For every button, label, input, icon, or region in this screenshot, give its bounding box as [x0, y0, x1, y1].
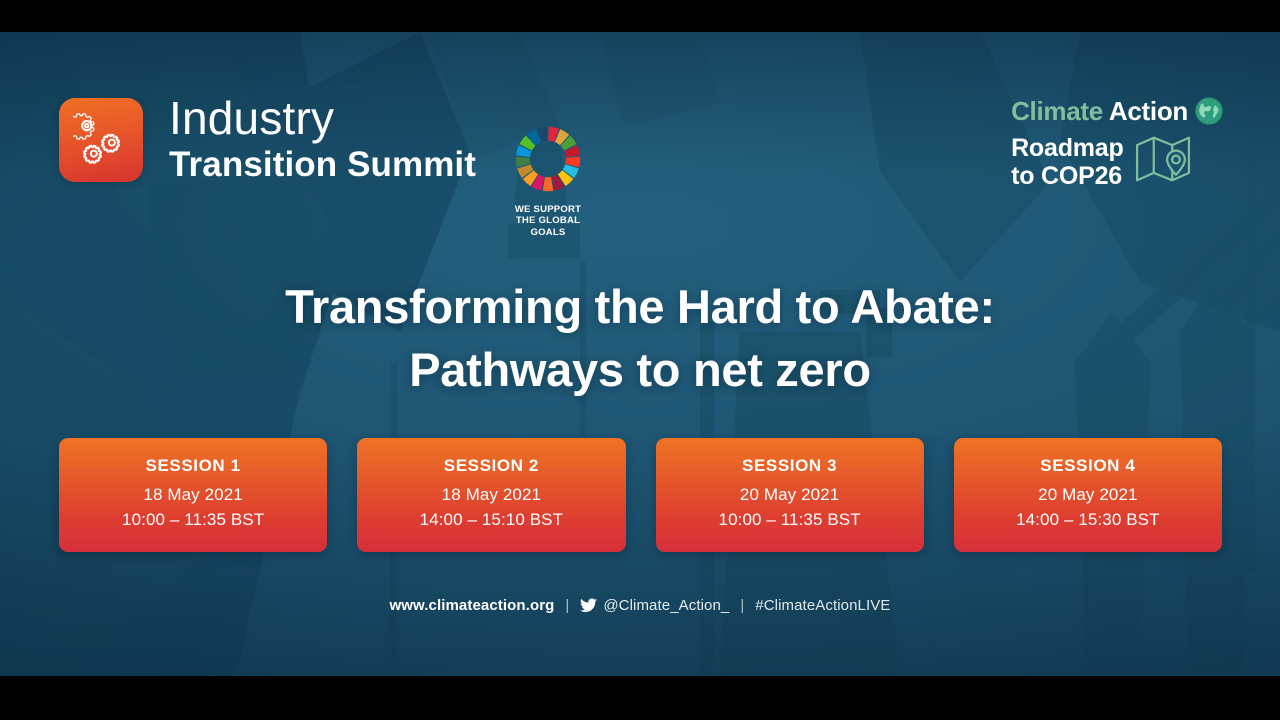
- roadmap-line2: to COP26: [1011, 162, 1122, 190]
- footer-separator: |: [565, 597, 569, 614]
- action-word: Action: [1109, 98, 1188, 124]
- session-name: SESSION 1: [146, 456, 241, 476]
- session-time: 14:00 – 15:30 BST: [1016, 507, 1159, 533]
- session-date: 20 May 2021: [1038, 482, 1137, 508]
- climate-action-roadmap-logo: Climate Action Roadmap to COP26: [1011, 96, 1224, 190]
- sdg-color-wheel-icon: [513, 124, 583, 194]
- footer-separator: |: [740, 597, 744, 614]
- title-line-1: Transforming the Hard to Abate:: [0, 276, 1280, 339]
- roadmap-to-cop26-text: Roadmap to COP26: [1011, 134, 1124, 190]
- sdg-caption-line2: THE GLOBAL GOALS: [516, 215, 580, 237]
- session-card[interactable]: SESSION 4 20 May 2021 14:00 – 15:30 BST: [954, 438, 1222, 552]
- slide-header: Industry Transition Summit WE SUPPORT TH…: [0, 32, 1280, 212]
- sdg-global-goals-logo: WE SUPPORT THE GLOBAL GOALS: [506, 124, 590, 238]
- map-pin-icon: [1134, 134, 1192, 184]
- website-link[interactable]: www.climateaction.org: [390, 597, 555, 614]
- brand-line-industry: Industry: [169, 95, 476, 141]
- session-card[interactable]: SESSION 2 18 May 2021 14:00 – 15:10 BST: [357, 438, 625, 552]
- session-card[interactable]: SESSION 3 20 May 2021 10:00 – 11:35 BST: [656, 438, 924, 552]
- brand-wordmark: Industry Transition Summit: [169, 95, 476, 184]
- page-title: Transforming the Hard to Abate: Pathways…: [0, 276, 1280, 401]
- title-line-2: Pathways to net zero: [0, 339, 1280, 402]
- event-hashtag[interactable]: #ClimateActionLIVE: [755, 597, 890, 614]
- session-time: 10:00 – 11:35 BST: [122, 507, 264, 533]
- session-time: 14:00 – 15:10 BST: [420, 507, 563, 533]
- session-time: 10:00 – 11:35 BST: [719, 507, 861, 533]
- footer-contact-bar: www.climateaction.org | @Climate_Action_…: [0, 597, 1280, 614]
- letterbox-bar-bottom: [0, 676, 1280, 720]
- globe-icon: [1194, 96, 1224, 126]
- twitter-bird-icon: [580, 598, 597, 613]
- brand-line-transition-summit: Transition Summit: [169, 147, 476, 182]
- gears-icon: [59, 98, 143, 182]
- session-date: 20 May 2021: [740, 482, 839, 508]
- climate-word: Climate: [1011, 98, 1103, 124]
- session-card[interactable]: SESSION 1 18 May 2021 10:00 – 11:35 BST: [59, 438, 327, 552]
- twitter-handle: @Climate_Action_: [603, 597, 729, 614]
- session-card-row: SESSION 1 18 May 2021 10:00 – 11:35 BST …: [59, 438, 1222, 552]
- session-name: SESSION 2: [444, 456, 539, 476]
- twitter-handle-group[interactable]: @Climate_Action_: [580, 597, 729, 614]
- session-date: 18 May 2021: [143, 482, 242, 508]
- climate-action-wordmark: Climate Action: [1011, 96, 1224, 126]
- session-name: SESSION 4: [1040, 456, 1135, 476]
- sdg-caption-line1: WE SUPPORT: [515, 204, 581, 215]
- sdg-caption: WE SUPPORT THE GLOBAL GOALS: [506, 204, 590, 238]
- presentation-slide: Industry Transition Summit WE SUPPORT TH…: [0, 0, 1280, 720]
- roadmap-row: Roadmap to COP26: [1011, 134, 1224, 190]
- slide-stage: Industry Transition Summit WE SUPPORT TH…: [0, 32, 1280, 676]
- letterbox-bar-top: [0, 0, 1280, 32]
- industry-transition-summit-logo: Industry Transition Summit: [59, 95, 476, 184]
- session-name: SESSION 3: [742, 456, 837, 476]
- session-date: 18 May 2021: [442, 482, 541, 508]
- roadmap-line1: Roadmap: [1011, 134, 1124, 162]
